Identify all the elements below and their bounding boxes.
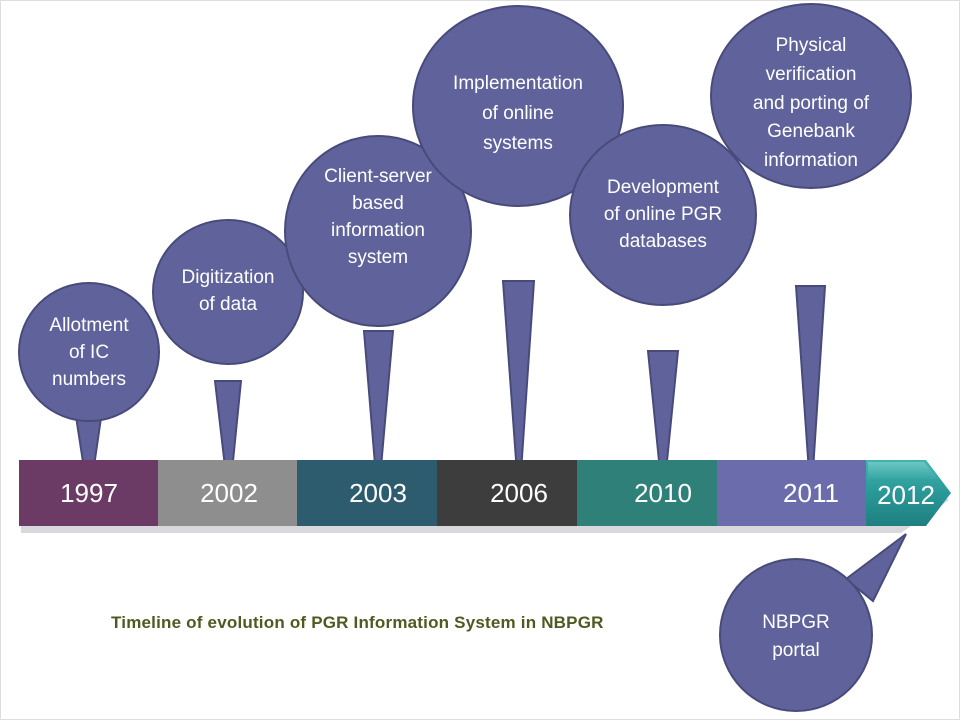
year-label-2006: 2006	[490, 478, 548, 508]
callout-2010[interactable]: Development of online PGR databases	[570, 125, 756, 305]
callout-line: Digitization	[182, 267, 275, 288]
callout-line: and porting of	[753, 93, 870, 114]
callout-line: Allotment	[49, 315, 129, 336]
callout-line: systems	[483, 133, 553, 154]
callout-line: Physical	[776, 35, 847, 56]
year-label-2010: 2010	[634, 478, 692, 508]
callout-line: verification	[766, 64, 857, 85]
year-label-1997: 1997	[60, 478, 118, 508]
callout-line: Genebank	[767, 121, 855, 142]
diagram-caption: Timeline of evolution of PGR Information…	[111, 613, 604, 633]
year-label-2003: 2003	[349, 478, 407, 508]
year-label-2011: 2011	[783, 478, 839, 508]
callout-line: based	[352, 193, 404, 214]
callout-line: portal	[772, 640, 820, 661]
year-label-2012: 2012	[877, 480, 935, 510]
callout-line: of online	[482, 103, 554, 124]
callout-line: of data	[199, 294, 258, 315]
callout-line: NBPGR	[762, 612, 830, 633]
callout-line: databases	[619, 231, 707, 252]
callout-line: system	[348, 247, 408, 268]
callout-line: Client-server	[324, 166, 432, 187]
callout-bubble-2012	[720, 559, 872, 711]
callout-1997[interactable]: Allotment of IC numbers	[19, 283, 159, 421]
callout-line: Development	[607, 177, 720, 198]
timeline-diagram: 1997 2002 2003 2006 2010 2011 2012 Allot…	[0, 0, 960, 720]
year-label-2002: 2002	[200, 478, 258, 508]
callout-line: information	[331, 220, 425, 241]
callout-line: Implementation	[453, 73, 583, 94]
callout-2011[interactable]: Physical verification and porting of Gen…	[711, 4, 911, 188]
callout-line: numbers	[52, 369, 126, 390]
callout-bubble-2002	[153, 220, 303, 364]
callout-line: of online PGR	[604, 204, 722, 225]
callout-2002[interactable]: Digitization of data	[153, 220, 303, 364]
callout-line: information	[764, 150, 858, 171]
callout-line: of IC	[69, 342, 109, 363]
callout-2012[interactable]: NBPGR portal	[720, 559, 872, 711]
timeline-bar: 1997 2002 2003 2006 2010 2011 2012	[19, 460, 951, 526]
